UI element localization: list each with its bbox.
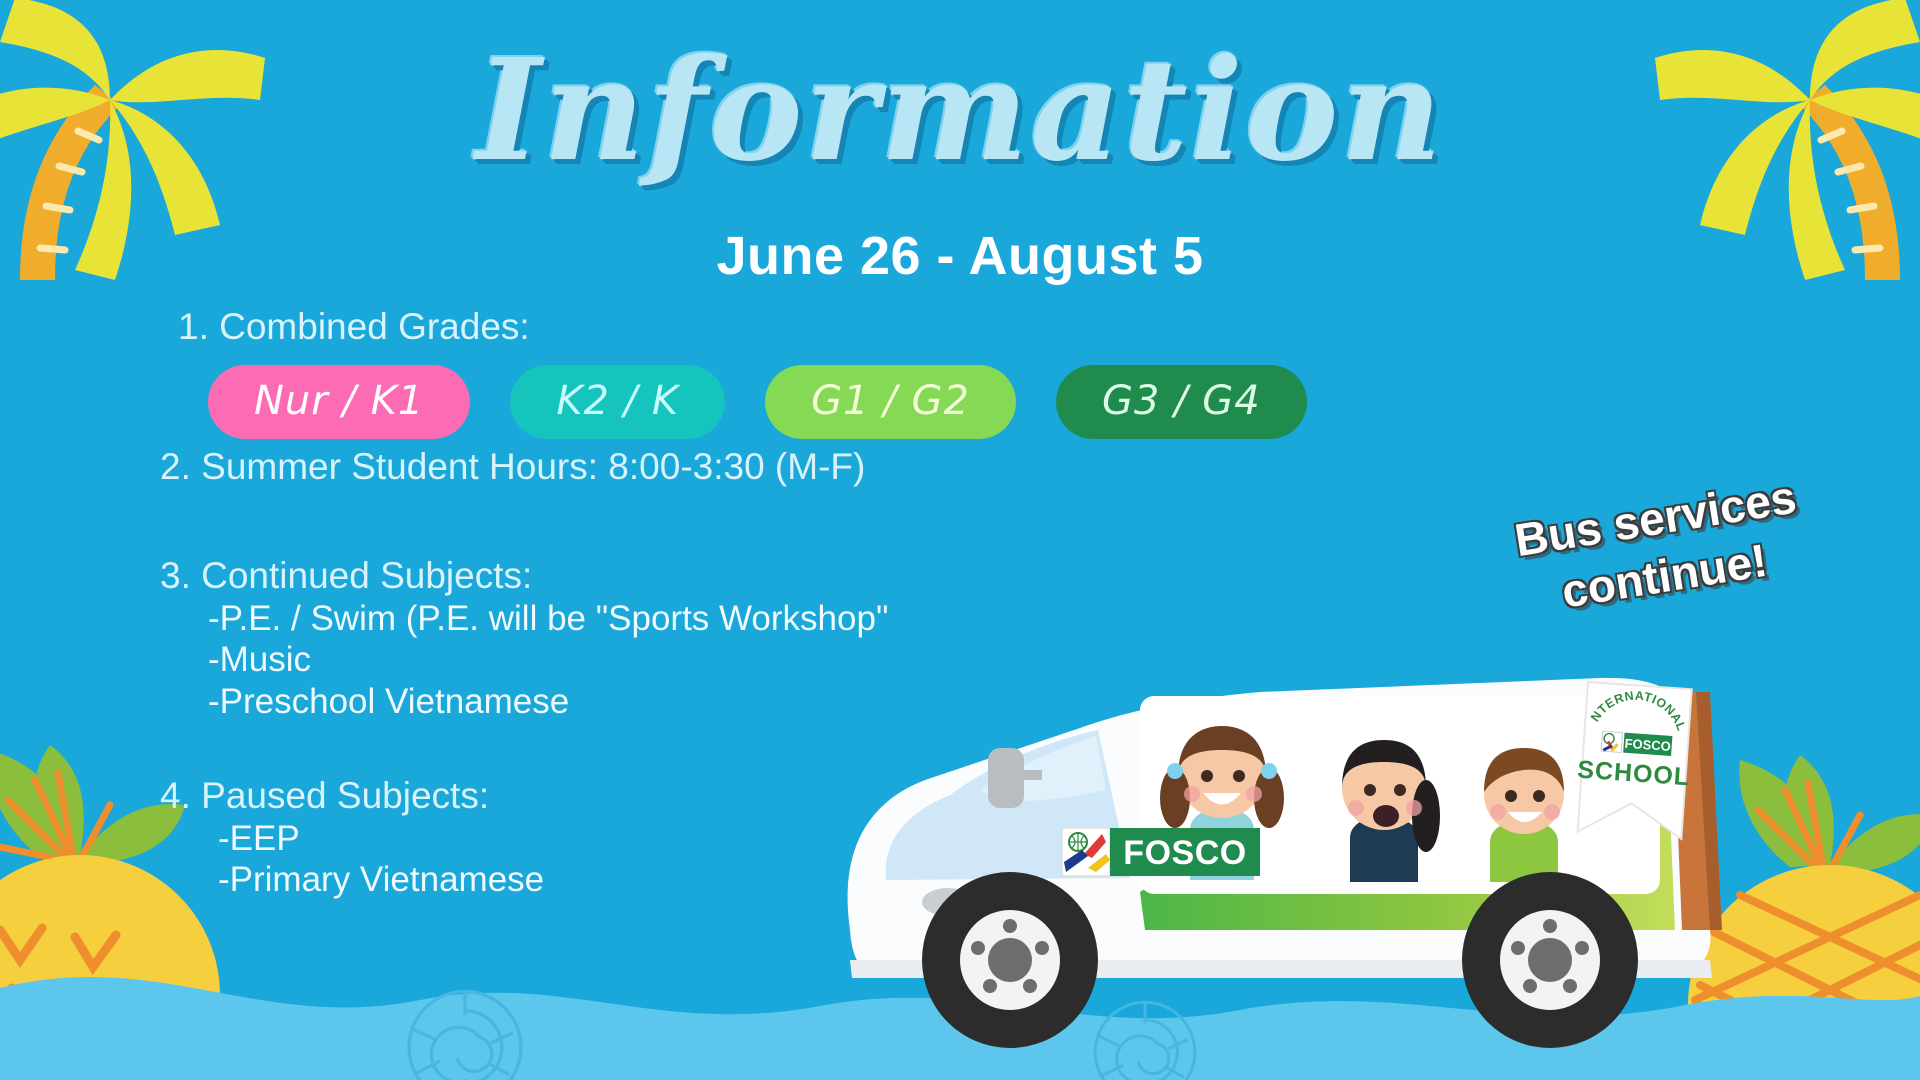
school-bus-illustration: INTERNATIONAL FOSCO SCHOOL FOSCO [830, 630, 1850, 1050]
bus-services-callout: Bus services continue! [1483, 464, 1837, 631]
bus-side-fosco-logo: FOSCO [1062, 828, 1260, 876]
bus-rear-wheel [1462, 872, 1638, 1048]
grade-pill-g3-g4[interactable]: G3 / G4 [1056, 365, 1307, 439]
grade-pill-k2-k[interactable]: K2 / K [510, 365, 725, 439]
list-item-continued-subjects: 3. Continued Subjects: [160, 554, 1240, 598]
bus-front-wheel [922, 872, 1098, 1048]
grade-pill-nur-k1[interactable]: Nur / K1 [208, 365, 470, 439]
list-item-combined-grades: 1. Combined Grades: [178, 305, 1240, 349]
page-title-wrapper: Information [0, 38, 1920, 185]
grade-pill-g1-g2[interactable]: G1 / G2 [765, 365, 1016, 439]
svg-text:FOSCO: FOSCO [1123, 834, 1246, 872]
page-subtitle: June 26 - August 5 [0, 225, 1920, 287]
list-item-student-hours: 2. Summer Student Hours: 8:00-3:30 (M-F) [160, 445, 1240, 489]
grade-pill-group: Nur / K1 K2 / K G1 / G2 G3 / G4 [208, 365, 1240, 439]
passenger-boy [1484, 748, 1564, 882]
page-title: Information [0, 38, 1920, 185]
bus-mirror-arm [1016, 770, 1042, 780]
page-subtitle-wrapper: June 26 - August 5 [0, 225, 1920, 287]
spacer [160, 488, 1240, 554]
